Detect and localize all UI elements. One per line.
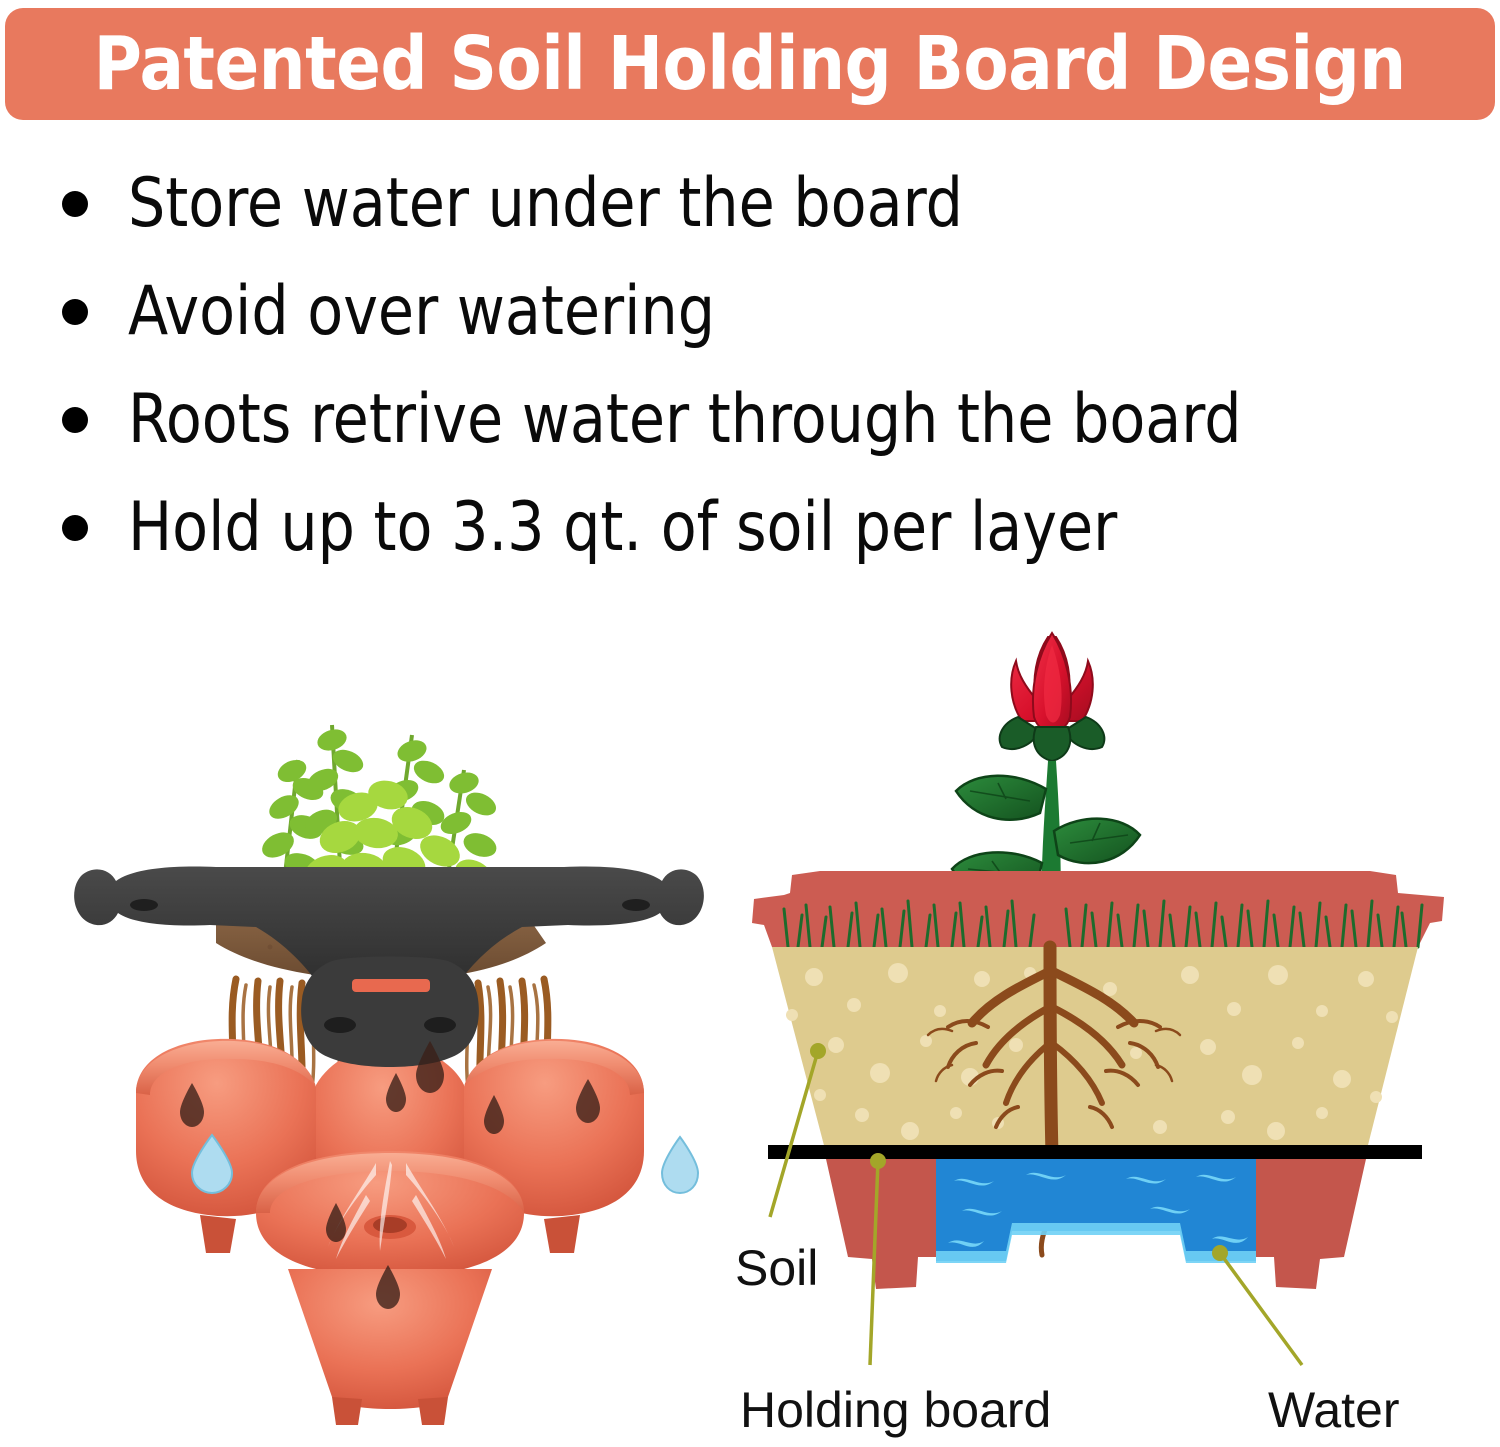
feature-text: Avoid over watering <box>128 278 715 346</box>
cross-section-diagram <box>730 575 1500 1447</box>
list-item: Roots retrive water through the board <box>0 366 1500 474</box>
feature-list: Store water under the board Avoid over w… <box>0 150 1500 582</box>
header-banner: Patented Soil Holding Board Design <box>5 8 1495 120</box>
callout-label-water: Water <box>1268 1385 1400 1435</box>
callout-label-soil: Soil <box>735 1243 818 1293</box>
feature-text: Roots retrive water through the board <box>128 386 1242 454</box>
holding-board-lower <box>301 957 479 1068</box>
holding-board-line <box>768 1145 1422 1159</box>
callout-label-holding-board: Holding board <box>740 1385 1051 1435</box>
product-photo <box>40 575 740 1447</box>
soil-layer <box>772 947 1418 1153</box>
list-item: Avoid over watering <box>0 258 1500 366</box>
list-item: Store water under the board <box>0 150 1500 258</box>
list-item: Hold up to 3.3 qt. of soil per layer <box>0 474 1500 582</box>
page-title: Patented Soil Holding Board Design <box>94 27 1406 101</box>
bullet-icon <box>62 407 88 433</box>
bullet-icon <box>62 515 88 541</box>
rose-flower-icon <box>1000 633 1105 761</box>
feature-text: Store water under the board <box>128 170 963 238</box>
pot-cross-section-illustration <box>730 575 1500 1447</box>
feature-text: Hold up to 3.3 qt. of soil per layer <box>128 494 1117 562</box>
water-reservoir <box>936 1159 1256 1263</box>
bullet-icon <box>62 299 88 325</box>
illustration-area <box>0 575 1500 1447</box>
bullet-icon <box>62 191 88 217</box>
stacking-planter-illustration <box>40 575 740 1447</box>
